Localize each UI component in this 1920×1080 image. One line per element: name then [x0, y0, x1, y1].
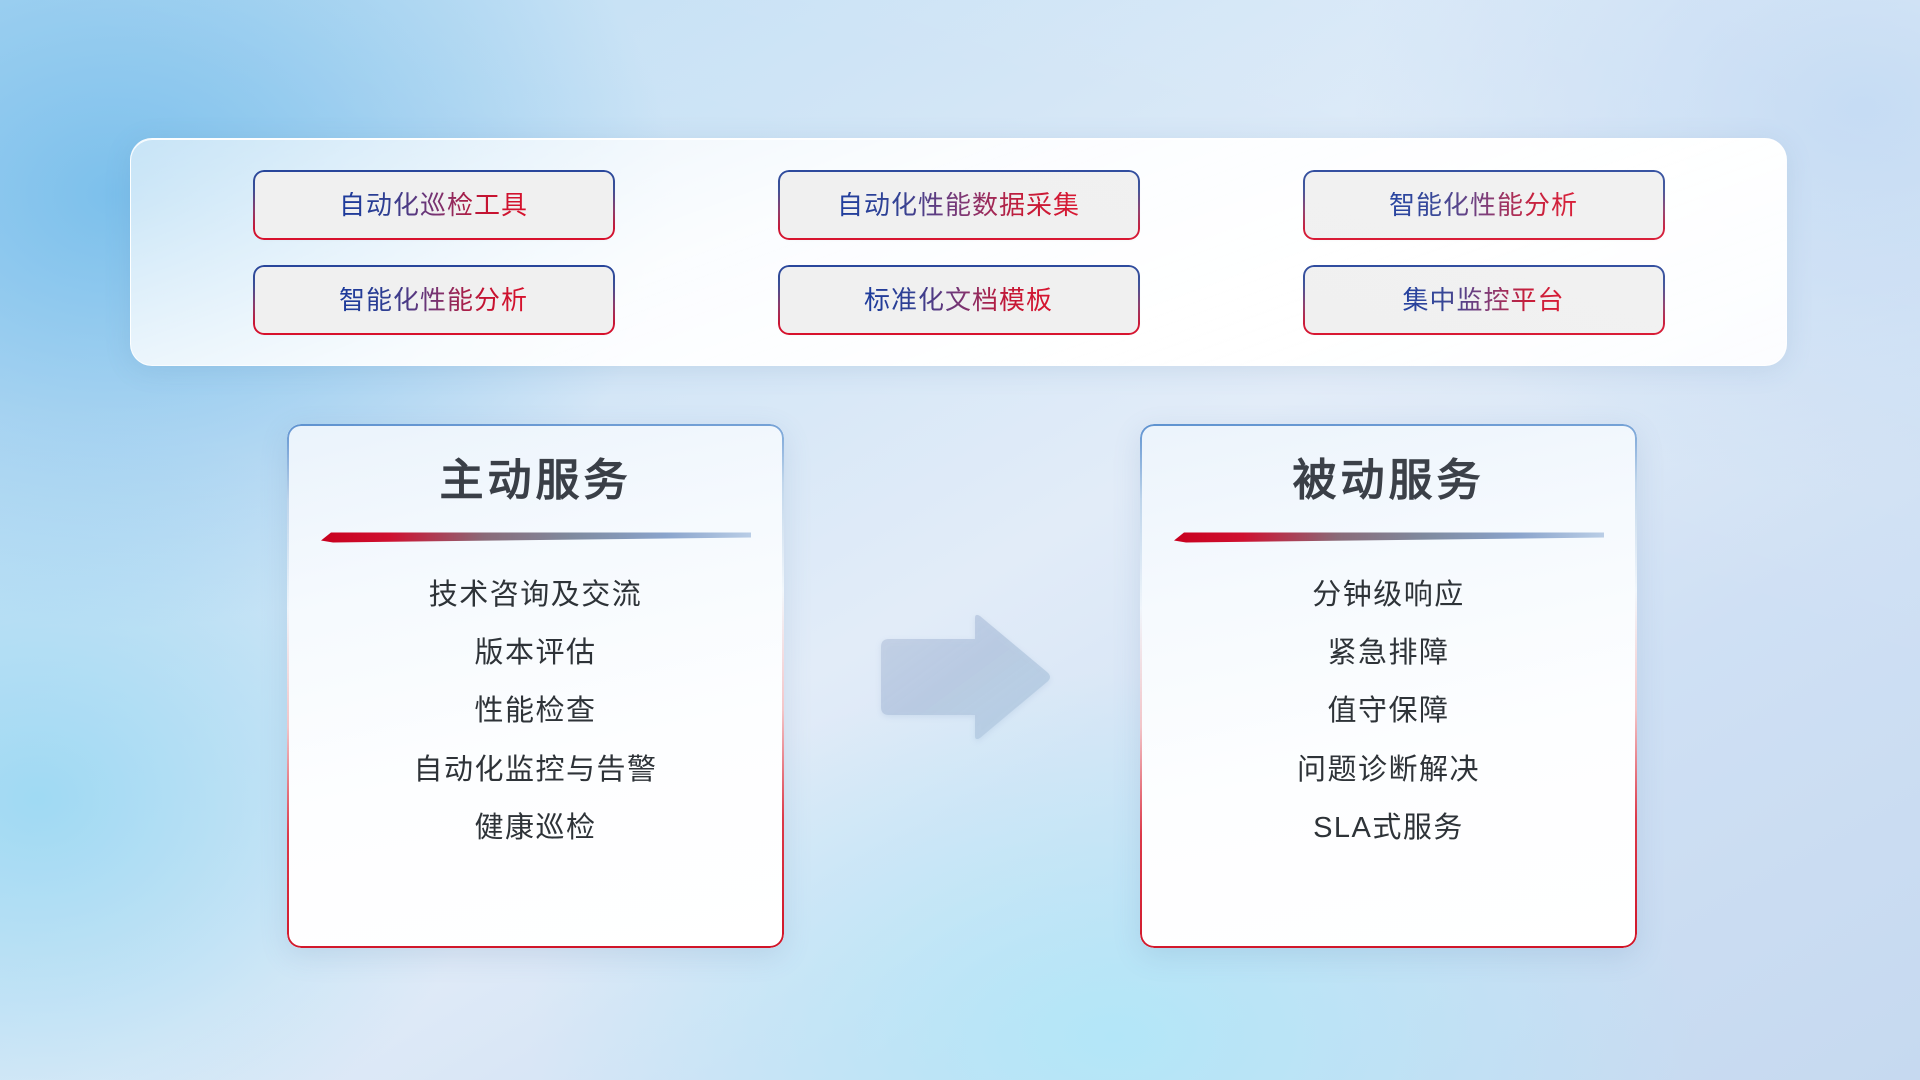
list-item: 自动化监控与告警	[413, 754, 657, 787]
capability-tag-label: 自动化性能数据采集	[837, 192, 1080, 218]
service-card-title: 主动服务	[287, 456, 784, 507]
capability-tag[interactable]: 标准化文档模板	[780, 267, 1138, 333]
capability-tag[interactable]: 自动化巡检工具	[255, 172, 613, 238]
service-card-title: 被动服务	[1140, 456, 1637, 507]
right-arrow-icon	[873, 613, 1053, 741]
list-item: 问题诊断解决	[1297, 754, 1480, 787]
list-item: 值守保障	[1327, 695, 1449, 728]
capability-tag[interactable]: 智能化性能分析	[1305, 172, 1663, 238]
service-card-passive[interactable]: 被动服务 分钟级响应 紧急排障 值守保障	[1140, 424, 1637, 948]
gradient-divider	[1174, 529, 1604, 545]
capability-tags-panel: 自动化巡检工具 自动化性能数据采集 智能化性能分析 智能化性能分析 标准化文档模…	[130, 138, 1787, 366]
list-item: 紧急排障	[1327, 637, 1449, 670]
list-item: 技术咨询及交流	[429, 579, 643, 612]
capability-tag-label: 自动化巡检工具	[339, 192, 528, 218]
list-item: 性能检查	[474, 695, 596, 728]
service-card-active[interactable]: 主动服务 技术咨询及交流 版本评估 性能检查	[287, 424, 784, 948]
capability-tag[interactable]: 自动化性能数据采集	[780, 172, 1138, 238]
list-item: SLA式服务	[1313, 812, 1464, 845]
list-item: 健康巡检	[474, 812, 596, 845]
list-item: 版本评估	[474, 637, 596, 670]
gradient-divider	[321, 529, 751, 545]
list-item: 分钟级响应	[1312, 579, 1465, 612]
capability-tag-label: 标准化文档模板	[864, 287, 1053, 313]
capability-tag-label: 智能化性能分析	[1389, 192, 1578, 218]
capability-tag[interactable]: 集中监控平台	[1305, 267, 1663, 333]
capability-tag-label: 智能化性能分析	[339, 287, 528, 313]
capability-tag-label: 集中监控平台	[1402, 287, 1564, 313]
service-card-list: 分钟级响应 紧急排障 值守保障 问题诊断解决 SLA式服务	[1140, 579, 1637, 846]
service-card-list: 技术咨询及交流 版本评估 性能检查 自动化监控与告警 健康巡检	[287, 579, 784, 846]
infographic-stage: 自动化巡检工具 自动化性能数据采集 智能化性能分析 智能化性能分析 标准化文档模…	[0, 0, 1920, 1080]
capability-tag[interactable]: 智能化性能分析	[255, 267, 613, 333]
